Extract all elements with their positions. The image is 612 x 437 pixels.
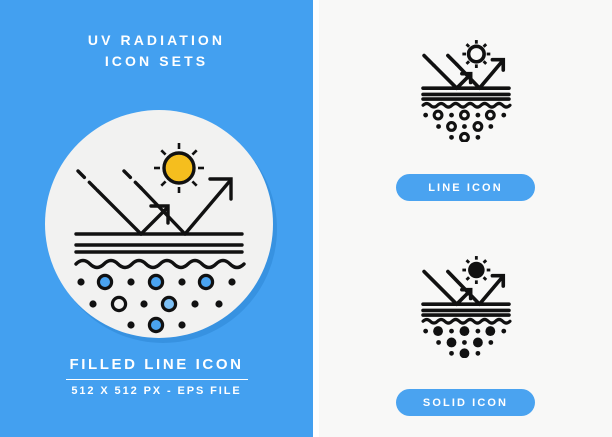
skin-wave-line (423, 319, 510, 323)
skin-surface-lines (423, 88, 509, 99)
uv-ray-reflected-right (479, 60, 503, 88)
uv-ray-reflected-right (479, 276, 503, 304)
skin-surface-lines (423, 304, 509, 315)
skin-wave-line (76, 261, 244, 268)
featured-spec-label: 512 X 512 PX - EPS FILE (0, 385, 313, 397)
sun-icon (154, 143, 204, 193)
uv-ray-reflected-right (185, 179, 231, 234)
featured-style-label: FILLED LINE ICON (0, 356, 313, 373)
page-title: UV RADIATION ICON SETS (0, 30, 313, 72)
line-icon-pill[interactable]: LINE ICON (396, 174, 535, 201)
skin-wave-line (423, 103, 510, 107)
poster-canvas: UV RADIATION ICON SETS (0, 0, 612, 437)
solid-icon-pill[interactable]: SOLID ICON (396, 389, 535, 416)
skin-cell-dots (77, 275, 235, 331)
uv-radiation-skin-icon (45, 110, 273, 338)
caption-divider (66, 379, 248, 380)
sun-icon (462, 40, 490, 68)
uv-radiation-skin-icon-solid[interactable] (406, 240, 526, 358)
sun-icon (462, 256, 490, 284)
uv-radiation-skin-icon-line[interactable] (406, 24, 526, 142)
featured-caption: FILLED LINE ICON 512 X 512 PX - EPS FILE (0, 356, 313, 397)
skin-surface-lines (76, 234, 242, 252)
skin-cell-dots (423, 111, 506, 141)
uv-ray-incoming-left (78, 171, 141, 234)
skin-cell-dots (423, 326, 506, 358)
